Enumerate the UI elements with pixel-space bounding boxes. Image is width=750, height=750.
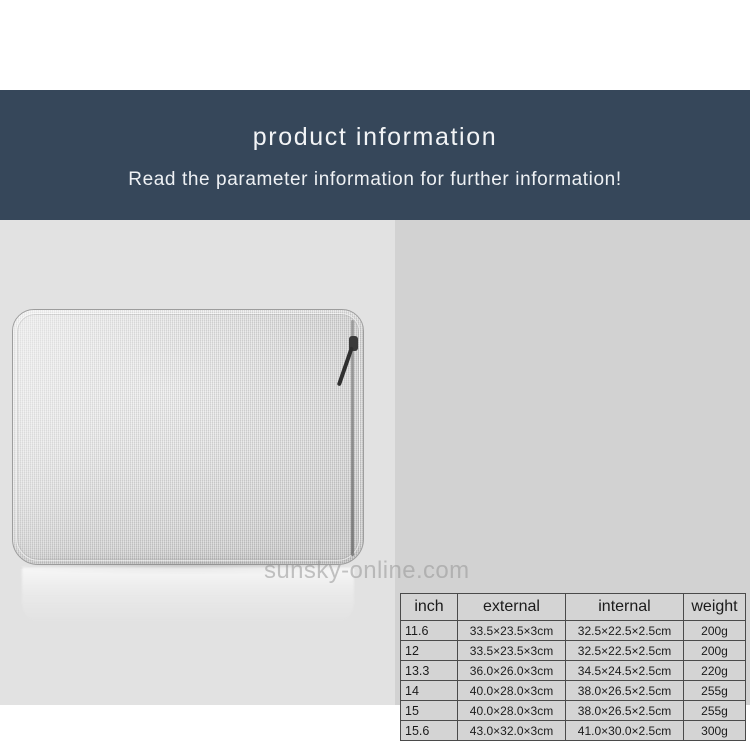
cell-internal: 32.5×22.5×2.5cm xyxy=(566,641,684,661)
cell-internal: 38.0×26.5×2.5cm xyxy=(566,681,684,701)
cell-inch: 11.6 xyxy=(401,621,458,641)
page-title: product information xyxy=(253,125,497,150)
table-row: 12 33.5×23.5×3cm 32.5×22.5×2.5cm 200g xyxy=(401,641,746,661)
product-stage xyxy=(0,220,395,705)
cell-weight: 200g xyxy=(684,621,746,641)
cell-external: 40.0×28.0×3cm xyxy=(458,701,566,721)
cell-external: 43.0×32.0×3cm xyxy=(458,721,566,741)
table-header-row: inch external internal weight xyxy=(401,594,746,621)
cell-inch: 15.6 xyxy=(401,721,458,741)
table-row: 14 40.0×28.0×3cm 38.0×26.5×2.5cm 255g xyxy=(401,681,746,701)
column-header-internal: internal xyxy=(566,594,684,621)
cell-external: 40.0×28.0×3cm xyxy=(458,681,566,701)
cell-external: 36.0×26.0×3cm xyxy=(458,661,566,681)
cell-external: 33.5×23.5×3cm xyxy=(458,621,566,641)
table-row: 15 40.0×28.0×3cm 38.0×26.5×2.5cm 255g xyxy=(401,701,746,721)
product-reflection xyxy=(22,567,354,625)
header-banner: product information Read the parameter i… xyxy=(0,90,750,220)
laptop-sleeve-image xyxy=(12,309,364,565)
page-subtitle: Read the parameter information for furth… xyxy=(128,170,621,189)
cell-internal: 41.0×30.0×2.5cm xyxy=(566,721,684,741)
column-header-weight: weight xyxy=(684,594,746,621)
cell-weight: 255g xyxy=(684,701,746,721)
content-area: sunsky-online.com inch external internal… xyxy=(0,220,750,705)
zipper-pull-icon xyxy=(347,336,361,388)
cell-external: 33.5×23.5×3cm xyxy=(458,641,566,661)
cell-inch: 14 xyxy=(401,681,458,701)
column-header-external: external xyxy=(458,594,566,621)
product-image-panel xyxy=(0,220,395,705)
cell-inch: 13.3 xyxy=(401,661,458,681)
cell-internal: 34.5×24.5×2.5cm xyxy=(566,661,684,681)
cell-internal: 32.5×22.5×2.5cm xyxy=(566,621,684,641)
cell-weight: 200g xyxy=(684,641,746,661)
cell-internal: 38.0×26.5×2.5cm xyxy=(566,701,684,721)
product-information-page: product information Read the parameter i… xyxy=(0,0,750,750)
table-row: 11.6 33.5×23.5×3cm 32.5×22.5×2.5cm 200g xyxy=(401,621,746,641)
cell-inch: 15 xyxy=(401,701,458,721)
cell-weight: 300g xyxy=(684,721,746,741)
sleeve-piping xyxy=(16,313,360,561)
table-row: 15.6 43.0×32.0×3cm 41.0×30.0×2.5cm 300g xyxy=(401,721,746,741)
column-header-inch: inch xyxy=(401,594,458,621)
cell-weight: 255g xyxy=(684,681,746,701)
table-row: 13.3 36.0×26.0×3cm 34.5×24.5×2.5cm 220g xyxy=(401,661,746,681)
cell-inch: 12 xyxy=(401,641,458,661)
cell-weight: 220g xyxy=(684,661,746,681)
spec-table-container: inch external internal weight 11.6 33.5×… xyxy=(400,593,745,741)
specification-table: inch external internal weight 11.6 33.5×… xyxy=(400,593,746,741)
